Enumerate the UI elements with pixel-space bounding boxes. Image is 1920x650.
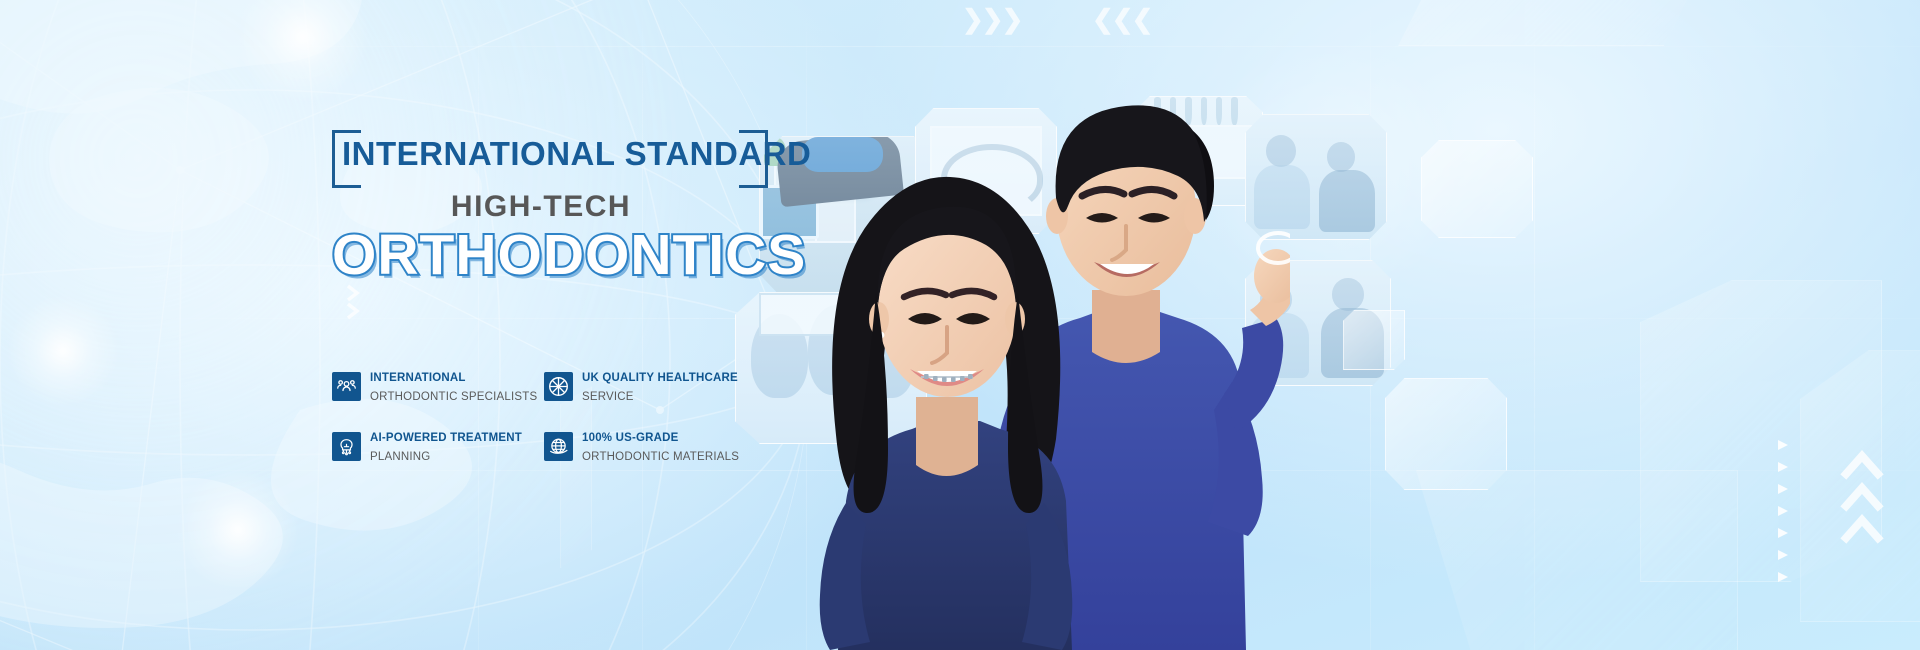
feature-subtitle: ORTHODONTIC SPECIALISTS (370, 391, 537, 403)
feature-subtitle: PLANNING (370, 451, 430, 463)
feature-item-us-grade[interactable]: 100% US-GRADE ORTHODONTIC MATERIALS (544, 428, 752, 466)
headline-line-1-row: INTERNATIONAL STANDARD (332, 128, 762, 184)
tech-plate (1640, 280, 1882, 582)
feature-item-international[interactable]: INTERNATIONAL ORTHODONTIC SPECIALISTS (332, 368, 544, 406)
model-photos (780, 0, 1340, 650)
clear-aligner-photo (1421, 140, 1533, 238)
clear-aligner-photo (1385, 378, 1507, 490)
feature-subtitle: ORTHODONTIC MATERIALS (582, 451, 739, 463)
feature-text: 100% US-GRADE ORTHODONTIC MATERIALS (582, 428, 739, 466)
bracket-right-icon (739, 130, 768, 188)
feature-title: 100% US-GRADE (582, 432, 679, 444)
feature-title: UK QUALITY HEALTHCARE (582, 372, 738, 384)
glow-spark (8, 296, 118, 406)
glow-spark (238, 0, 368, 102)
feature-title: AI-POWERED TREATMENT (370, 432, 522, 444)
feature-text: UK QUALITY HEALTHCARE SERVICE (582, 368, 738, 406)
tech-plate (1416, 470, 1738, 650)
feature-item-ai-powered[interactable]: AI-POWERED TREATMENT PLANNING (332, 428, 544, 466)
globe-network-icon (544, 432, 573, 461)
feature-item-uk-quality[interactable]: UK QUALITY HEALTHCARE SERVICE (544, 368, 752, 406)
uk-flag-circle-icon (544, 372, 573, 401)
feature-text: INTERNATIONAL ORTHODONTIC SPECIALISTS (370, 368, 537, 406)
headline-line-2: HIGH-TECH (332, 190, 762, 224)
chevron-right-small-decoration (344, 282, 362, 322)
tech-plate (1343, 310, 1405, 370)
glow-spark (178, 470, 298, 590)
triangle-dot-column (1778, 440, 1790, 590)
headline-block: INTERNATIONAL STANDARD HIGH-TECH ORTHODO… (332, 128, 762, 286)
feature-subtitle: SERVICE (582, 391, 634, 403)
female-model-with-braces (780, 105, 1110, 650)
feature-text: AI-POWERED TREATMENT PLANNING (370, 428, 522, 466)
world-globe-graphic (0, 0, 840, 650)
headline-line-3: ORTHODONTICS (332, 226, 762, 286)
feature-title: INTERNATIONAL (370, 372, 466, 384)
tech-plate (1800, 350, 1920, 622)
feature-list: INTERNATIONAL ORTHODONTIC SPECIALISTS (332, 368, 752, 466)
hero-banner: ❯❯❯ ❮❮❮ (0, 0, 1920, 650)
tech-plate (1398, 0, 1700, 46)
people-group-icon (332, 372, 361, 401)
ai-brain-icon (332, 432, 361, 461)
chevron-up-stack-icon (1840, 430, 1884, 550)
